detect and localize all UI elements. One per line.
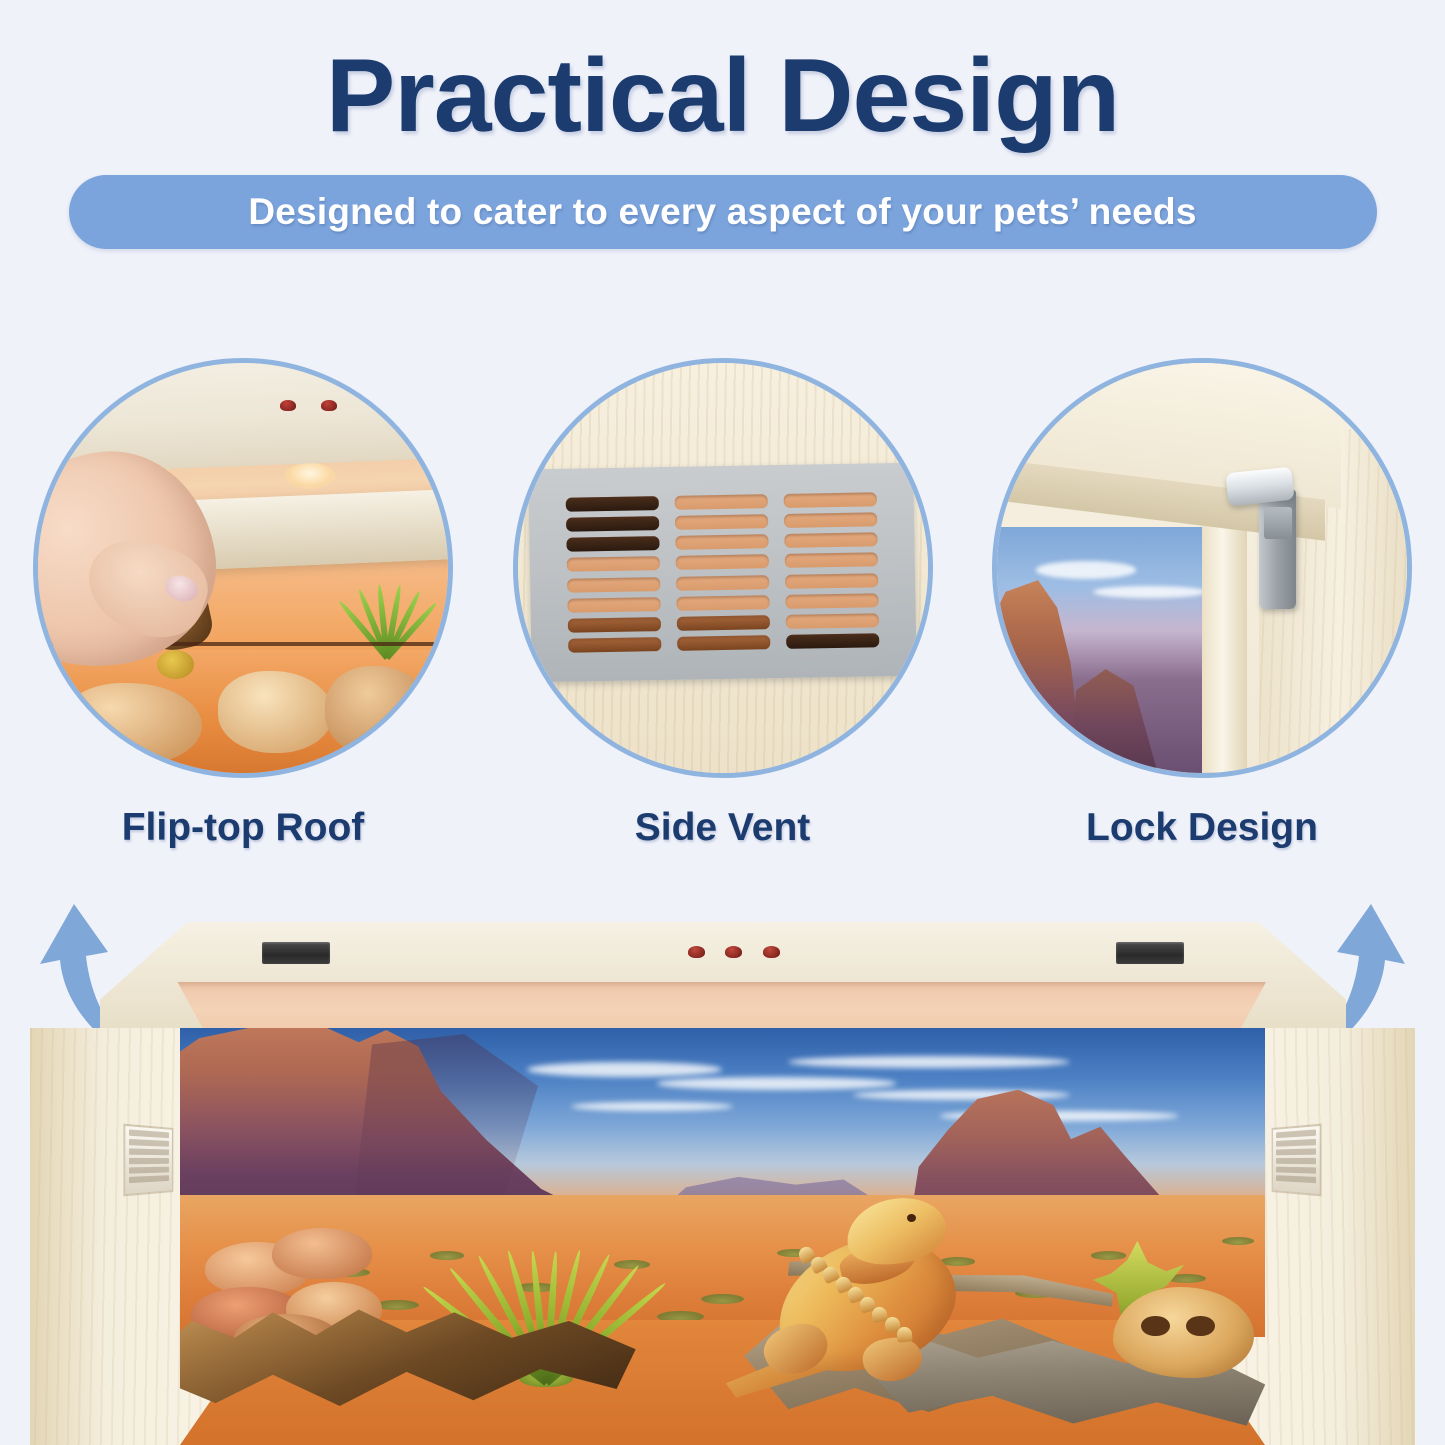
vent-slot (786, 633, 880, 649)
desert-mural (997, 527, 1214, 773)
vent-slot-row (568, 633, 880, 652)
vent-slot-row (566, 512, 878, 531)
side-vent-photo (518, 363, 928, 773)
corner-post (1202, 519, 1247, 773)
vent-slat (1276, 1129, 1316, 1138)
cloud (571, 1102, 734, 1111)
vent-slot-row (567, 613, 879, 632)
mesa-rock (1071, 655, 1158, 773)
feature-lock-design: Lock Design (992, 358, 1412, 858)
tank-moss-ball (157, 650, 194, 679)
feature-row: Flip-top Roof Side Vent (0, 358, 1445, 858)
vent-slat (129, 1139, 169, 1147)
tank-plant (346, 584, 424, 658)
roof-knob-icon (280, 400, 296, 411)
cloud (657, 1077, 896, 1089)
cloud (788, 1056, 1070, 1068)
feature-label-flip-top-roof: Flip-top Roof (122, 806, 365, 850)
vent-slot-row (567, 572, 879, 591)
vent-slat (1276, 1158, 1316, 1164)
feature-label-side-vent: Side Vent (635, 806, 811, 850)
feature-side-vent: Side Vent (513, 358, 933, 858)
lock-design-photo (997, 363, 1407, 773)
roof-knob-icon (763, 946, 780, 958)
vent-grille (528, 462, 917, 682)
mesa-rock (997, 576, 1084, 773)
flip-top-roof-photo (38, 363, 448, 773)
roof-knob-icon (688, 946, 705, 958)
vent-slat (1276, 1175, 1316, 1183)
cloud (527, 1062, 722, 1077)
feature-image-flip-top-roof (33, 358, 453, 778)
vent-slot (784, 532, 878, 548)
product-photo-terrarium (0, 880, 1445, 1445)
vent-slat (1276, 1139, 1316, 1147)
vent-slot (783, 491, 877, 507)
terrarium-body (30, 1028, 1415, 1445)
flower (272, 1228, 372, 1279)
terrarium-interior (180, 1028, 1265, 1445)
subtitle-text: Designed to cater to every aspect of you… (248, 191, 1196, 233)
vent-slot (566, 556, 660, 572)
tank-rock (325, 666, 432, 756)
feature-image-side-vent (513, 358, 933, 778)
vent-slat (129, 1167, 169, 1174)
vent-slot (675, 534, 769, 550)
vent-slot (567, 617, 661, 633)
feature-label-lock-design: Lock Design (1086, 806, 1318, 850)
lock-latch-hook (1264, 507, 1293, 540)
vent-slat (129, 1129, 169, 1138)
skull-eye (1141, 1316, 1169, 1336)
roof-slot-icon (1116, 942, 1184, 964)
vent-slat (1276, 1167, 1316, 1174)
vent-slot (674, 493, 768, 509)
roof-slot-icon (262, 942, 330, 964)
vent-slot (565, 495, 659, 511)
vent-slot-row (567, 593, 879, 612)
vent-slot-row (566, 552, 878, 571)
subtitle-pill: Designed to cater to every aspect of you… (69, 175, 1377, 249)
vent-slot (675, 514, 769, 530)
vent-slot (785, 593, 879, 609)
vent-slot (567, 576, 661, 592)
vent-slot (566, 536, 660, 552)
vent-slot (785, 572, 879, 588)
cloud (1093, 586, 1206, 598)
skull-eye (1186, 1316, 1214, 1336)
vent-slot (675, 554, 769, 570)
vent-slat (1276, 1148, 1316, 1155)
vent-slot (786, 613, 880, 629)
page-title: Practical Design (0, 42, 1445, 151)
cloud (1036, 561, 1136, 578)
vent-slot (566, 516, 660, 532)
tank-rock (63, 683, 202, 765)
side-vent-right (1273, 1126, 1320, 1194)
vent-slot (676, 574, 770, 590)
desert-scrub (1091, 1251, 1126, 1259)
vent-slot (784, 512, 878, 528)
vent-slot (677, 635, 771, 651)
vent-slot (568, 637, 662, 653)
roof-knob-icon (321, 400, 337, 411)
side-vent-left (125, 1126, 172, 1194)
header: Practical Design Designed to cater to ev… (0, 0, 1445, 249)
bearded-dragon (723, 1195, 1016, 1412)
dragon-spike (896, 1326, 912, 1343)
vent-slat (129, 1158, 169, 1164)
vent-slot (785, 552, 879, 568)
desert-scrub (1222, 1237, 1254, 1245)
vent-slot (567, 597, 661, 613)
vent-slot-row (565, 491, 877, 510)
vent-slat (129, 1148, 169, 1155)
lock-latch-icon (1225, 466, 1294, 505)
vent-slot-row (566, 532, 878, 551)
vent-slot (677, 615, 771, 631)
feature-image-lock-design (992, 358, 1412, 778)
vent-slot (676, 595, 770, 611)
feature-flip-top-roof: Flip-top Roof (33, 358, 453, 858)
roof-knob-icon (725, 946, 742, 958)
vent-slat (129, 1175, 169, 1183)
